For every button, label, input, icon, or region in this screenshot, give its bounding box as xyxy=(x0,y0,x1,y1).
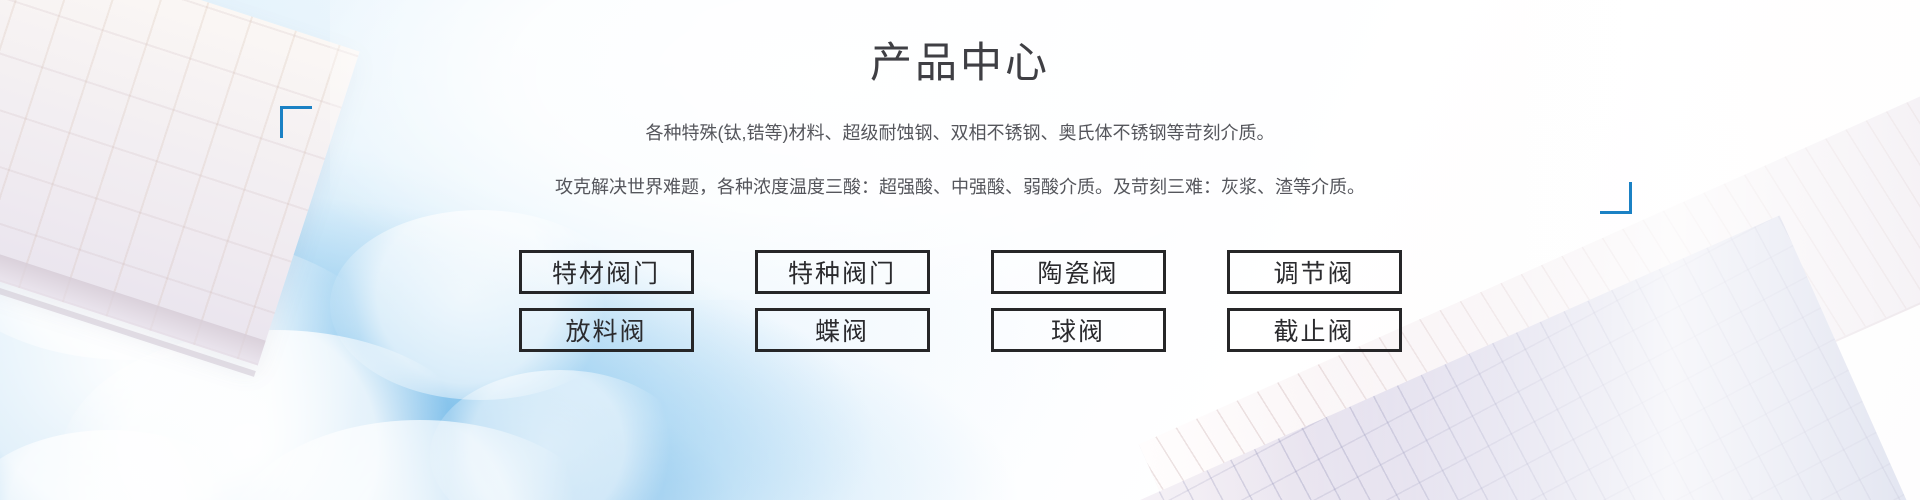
product-center-banner: 产品中心 各种特殊(钛,锆等)材料、超级耐蚀钢、双相不锈钢、奥氏体不锈钢等苛刻介… xyxy=(0,0,1920,500)
corner-bracket-bottom-right-icon xyxy=(1600,182,1632,214)
category-button-ceramic-valve[interactable]: 陶瓷阀 xyxy=(991,250,1166,294)
category-button-special-valve[interactable]: 特种阀门 xyxy=(755,250,930,294)
category-button-butterfly-valve[interactable]: 蝶阀 xyxy=(755,308,930,352)
corner-bracket-top-left-icon xyxy=(280,106,312,138)
category-button-techai-valve[interactable]: 特材阀门 xyxy=(519,250,694,294)
category-button-ball-valve[interactable]: 球阀 xyxy=(991,308,1166,352)
category-button-globe-valve[interactable]: 截止阀 xyxy=(1227,308,1402,352)
page-title: 产品中心 xyxy=(870,42,1050,84)
description-line-1: 各种特殊(钛,锆等)材料、超级耐蚀钢、双相不锈钢、奥氏体不锈钢等苛刻介质。 xyxy=(370,120,1550,148)
description-line-2: 攻克解决世界难题，各种浓度温度三酸：超强酸、中强酸、弱酸介质。及苛刻三难：灰浆、… xyxy=(370,174,1550,202)
category-button-discharge-valve[interactable]: 放料阀 xyxy=(519,308,694,352)
description-block: 各种特殊(钛,锆等)材料、超级耐蚀钢、双相不锈钢、奥氏体不锈钢等苛刻介质。 攻克… xyxy=(370,114,1550,206)
product-category-grid: 特材阀门 特种阀门 陶瓷阀 调节阀 放料阀 蝶阀 球阀 截止阀 xyxy=(519,250,1402,352)
banner-content: 产品中心 各种特殊(钛,锆等)材料、超级耐蚀钢、双相不锈钢、奥氏体不锈钢等苛刻介… xyxy=(0,0,1920,500)
category-button-control-valve[interactable]: 调节阀 xyxy=(1227,250,1402,294)
